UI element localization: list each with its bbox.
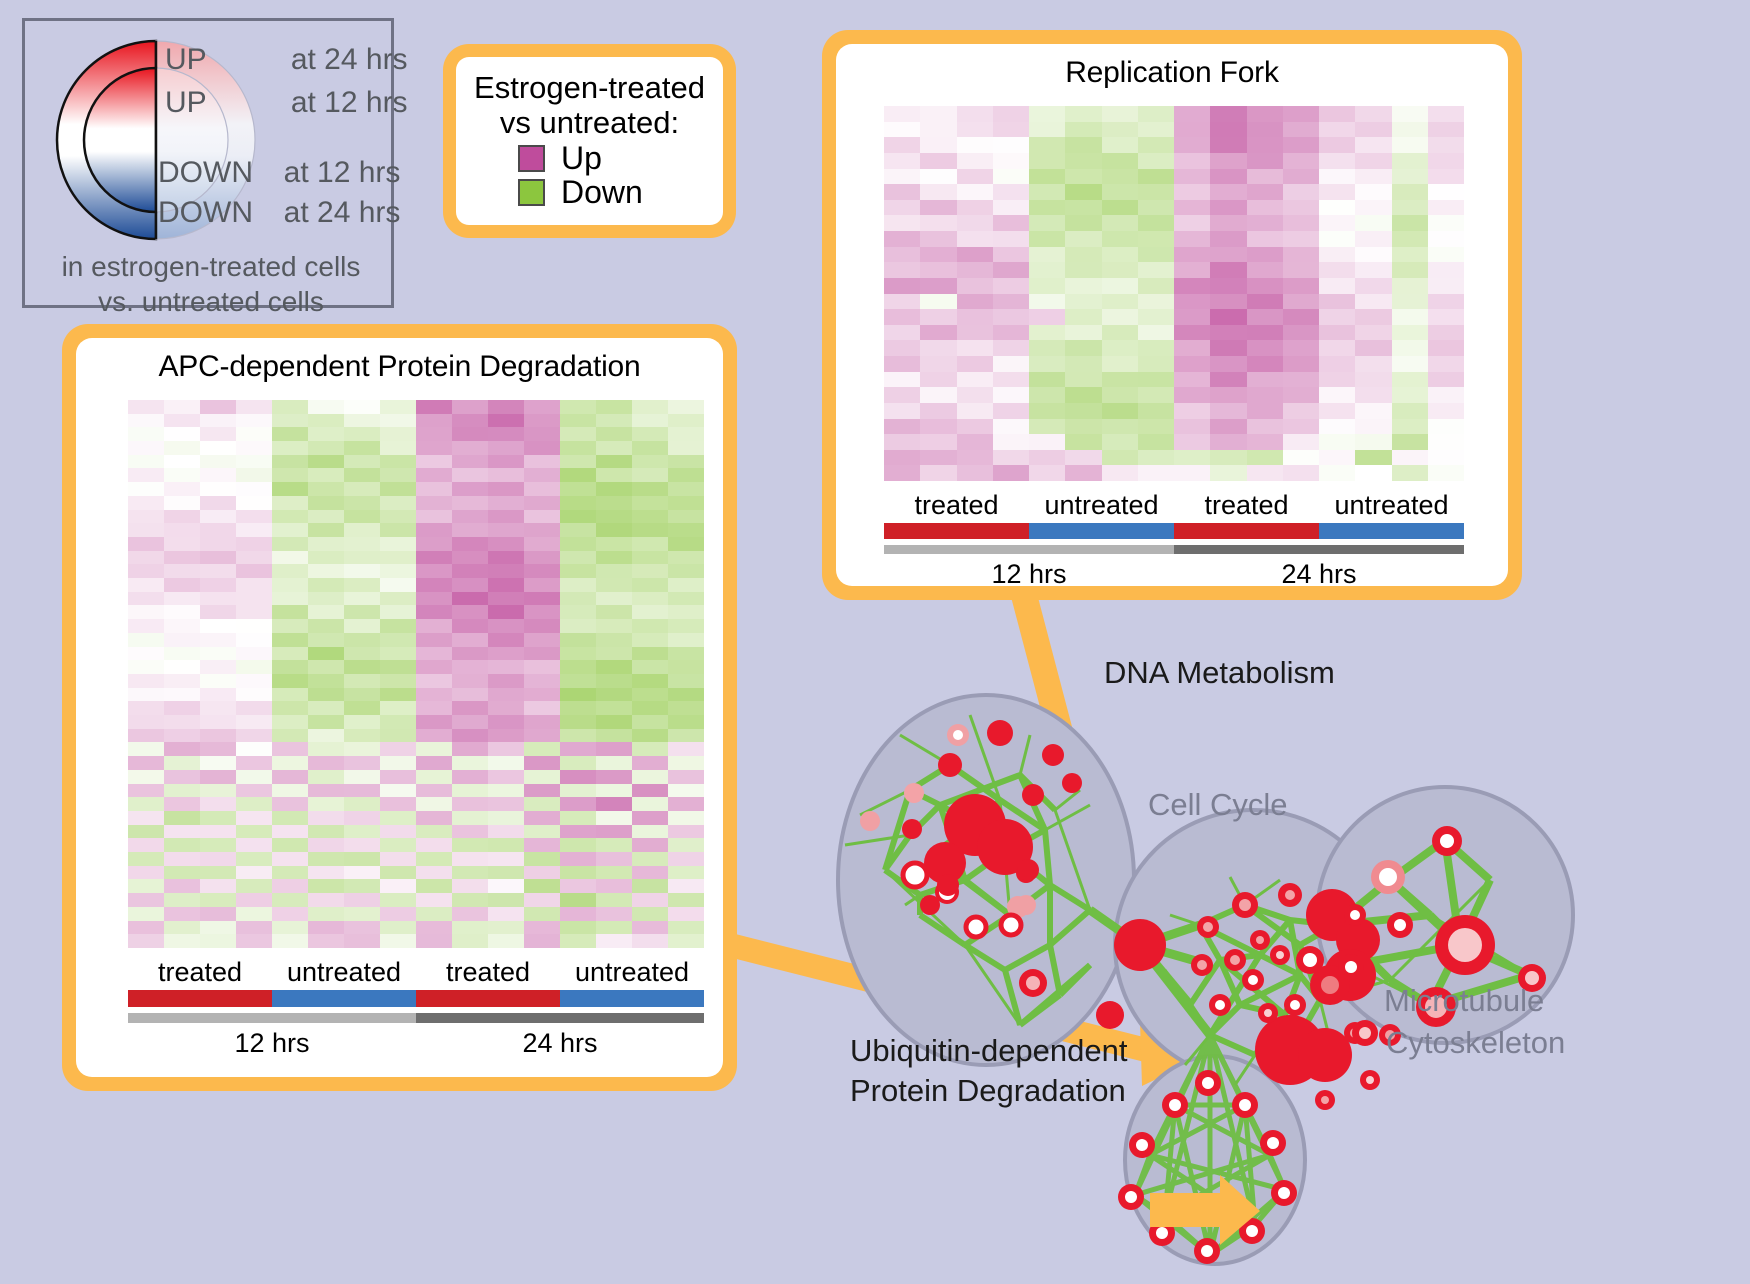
updown-legend-panel: Estrogen-treated vs untreated: Up Down [443, 44, 736, 238]
time-label: 12 hrs [884, 559, 1174, 586]
condition-label: treated [128, 957, 272, 988]
replication-fork-condition-colorbar [884, 523, 1464, 539]
key-word: DOWN [158, 196, 253, 229]
up-swatch-icon [518, 145, 545, 172]
key-word: UP [165, 86, 206, 119]
condition-bar-segment [1174, 523, 1319, 539]
legend-item-down: Down [518, 176, 723, 208]
key-row-down24: DOWN at 24 hrs [158, 196, 400, 230]
time-label: 12 hrs [128, 1028, 416, 1059]
time-bar-segment [128, 1013, 416, 1023]
apc-time-colorbar [128, 1013, 704, 1023]
key-row-up12: UP at 12 hrs [165, 86, 408, 120]
time-bar-segment [416, 1013, 704, 1023]
key-subtitle: in estrogen-treated cells vs. untreated … [25, 249, 397, 319]
condition-bar-segment [1319, 523, 1464, 539]
condition-label: untreated [272, 957, 416, 988]
down-swatch-icon [518, 179, 545, 206]
replication-fork-condition-labels: treateduntreatedtreateduntreated [884, 490, 1464, 521]
condition-label: treated [416, 957, 560, 988]
apc-condition-colorbar [128, 990, 704, 1007]
apc-time-labels: 12 hrs24 hrs [128, 1028, 704, 1059]
condition-bar-segment [128, 990, 272, 1007]
condition-bar-segment [884, 523, 1029, 539]
key-time: at 12 hrs [291, 86, 408, 119]
condition-label: untreated [1029, 490, 1174, 521]
key-subtitle-line2: vs. untreated cells [25, 284, 397, 319]
apc-panel: APC-dependent Protein Degradation treate… [62, 324, 737, 1091]
colorwheel-key-box: UP at 24 hrs UP at 12 hrs DOWN at 12 hrs… [22, 18, 394, 308]
time-bar-segment [1174, 545, 1464, 554]
apc-heatmap [128, 400, 704, 948]
time-label: 24 hrs [416, 1028, 704, 1059]
replication-fork-panel: Replication Fork treateduntreatedtreated… [822, 30, 1522, 600]
ubiquitin-arrowhead [790, 615, 1750, 1279]
replication-fork-time-labels: 12 hrs24 hrs [884, 559, 1464, 586]
apc-panel-title: APC-dependent Protein Degradation [76, 338, 723, 384]
key-word: UP [165, 43, 206, 76]
condition-label: treated [884, 490, 1029, 521]
key-row-up24: UP at 24 hrs [165, 43, 408, 77]
pathway-network-diagram: DNA Metabolism Cell Cycle Microtubule Cy… [790, 615, 1750, 1279]
key-time: at 24 hrs [284, 196, 401, 229]
condition-label: untreated [560, 957, 704, 988]
key-subtitle-line1: in estrogen-treated cells [25, 249, 397, 284]
legend-label-up: Up [561, 142, 602, 174]
replication-fork-time-colorbar [884, 545, 1464, 554]
time-bar-segment [884, 545, 1174, 554]
condition-bar-segment [416, 990, 560, 1007]
updown-legend-title: Estrogen-treated vs untreated: [456, 57, 723, 140]
condition-label: untreated [1319, 490, 1464, 521]
time-label: 24 hrs [1174, 559, 1464, 586]
updown-title-line2: vs untreated: [456, 105, 723, 140]
condition-bar-segment [272, 990, 416, 1007]
replication-fork-heatmap [884, 106, 1464, 481]
key-time: at 24 hrs [291, 43, 408, 76]
condition-bar-segment [560, 990, 704, 1007]
key-row-down12: DOWN at 12 hrs [158, 156, 400, 190]
key-word: DOWN [158, 156, 253, 189]
legend-label-down: Down [561, 176, 643, 208]
apc-condition-labels: treateduntreatedtreateduntreated [128, 957, 704, 988]
updown-title-line1: Estrogen-treated [456, 70, 723, 105]
replication-fork-panel-title: Replication Fork [836, 44, 1508, 90]
key-time: at 12 hrs [284, 156, 401, 189]
legend-item-up: Up [518, 142, 723, 174]
condition-bar-segment [1029, 523, 1174, 539]
condition-label: treated [1174, 490, 1319, 521]
